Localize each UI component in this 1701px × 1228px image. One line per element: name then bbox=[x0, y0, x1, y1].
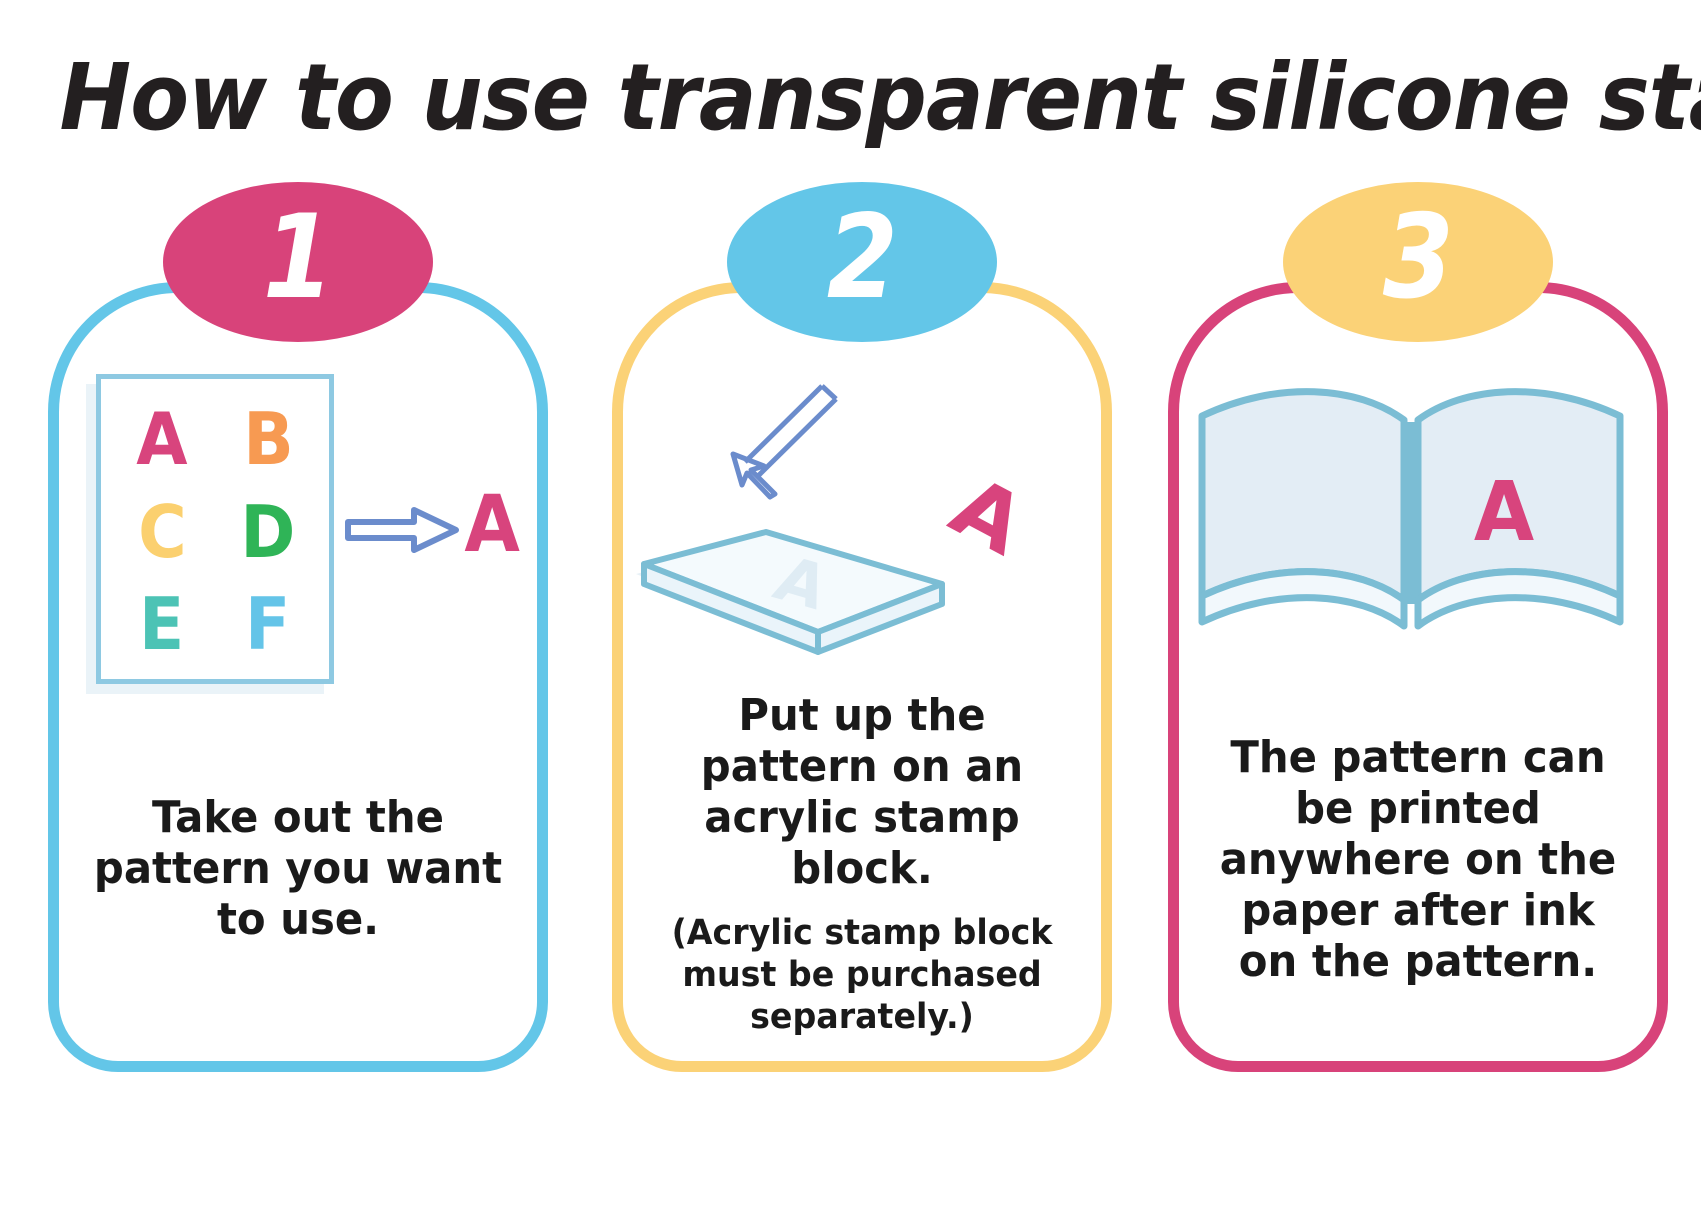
pattern-letter-c: C bbox=[138, 500, 187, 565]
pattern-letter-f: F bbox=[245, 592, 290, 657]
pattern-sheet-paper: A B C D E F bbox=[96, 374, 334, 684]
infographic-page: How to use transparent silicone stamp 1 … bbox=[0, 0, 1701, 1228]
selected-pattern-letter: A bbox=[464, 486, 520, 564]
pattern-sheet: A B C D E F bbox=[96, 374, 334, 684]
diagonal-arrow-icon bbox=[733, 386, 836, 497]
step-1-artwork: A B C D E F A bbox=[48, 356, 548, 696]
step-1-caption: Take out the pattern you want to use. bbox=[93, 792, 503, 945]
page-title: How to use transparent silicone stamp bbox=[60, 44, 1642, 151]
step-3-number-badge: 3 bbox=[1283, 182, 1553, 342]
printed-pattern-letter: A bbox=[1474, 464, 1534, 559]
silicone-stamp-letter: A bbox=[936, 458, 1040, 574]
svg-text:A: A bbox=[936, 458, 1040, 574]
pattern-letter-d: D bbox=[241, 500, 296, 565]
open-book-illustration: A bbox=[1168, 358, 1668, 658]
step-2-artwork: A A bbox=[612, 342, 1112, 672]
step-2-number-badge: 2 bbox=[727, 182, 997, 342]
pattern-letter-grid: A B C D E F bbox=[101, 379, 329, 679]
step-1-number: 1 bbox=[262, 200, 333, 316]
acrylic-block-illustration: A A bbox=[612, 342, 1112, 672]
step-2-caption: Put up the pattern on an acrylic stamp b… bbox=[657, 690, 1067, 894]
step-card-3: 3 A The pattern can be printed anywhere … bbox=[1168, 282, 1668, 1072]
pattern-letter-a: A bbox=[136, 407, 187, 472]
step-1-number-badge: 1 bbox=[163, 182, 433, 342]
step-2-subnote: (Acrylic stamp block must be purchased s… bbox=[647, 912, 1076, 1038]
step-card-1: 1 A B C D E F bbox=[48, 282, 548, 1072]
step-2-number: 2 bbox=[826, 200, 897, 316]
step-3-number: 3 bbox=[1382, 200, 1453, 316]
pattern-letter-e: E bbox=[139, 592, 184, 657]
right-arrow-icon bbox=[344, 504, 462, 556]
step-3-caption: The pattern can be printed anywhere on t… bbox=[1213, 732, 1623, 987]
pattern-letter-b: B bbox=[243, 407, 293, 472]
step-3-artwork: A bbox=[1168, 358, 1668, 658]
step-card-2: 2 A bbox=[612, 282, 1112, 1072]
